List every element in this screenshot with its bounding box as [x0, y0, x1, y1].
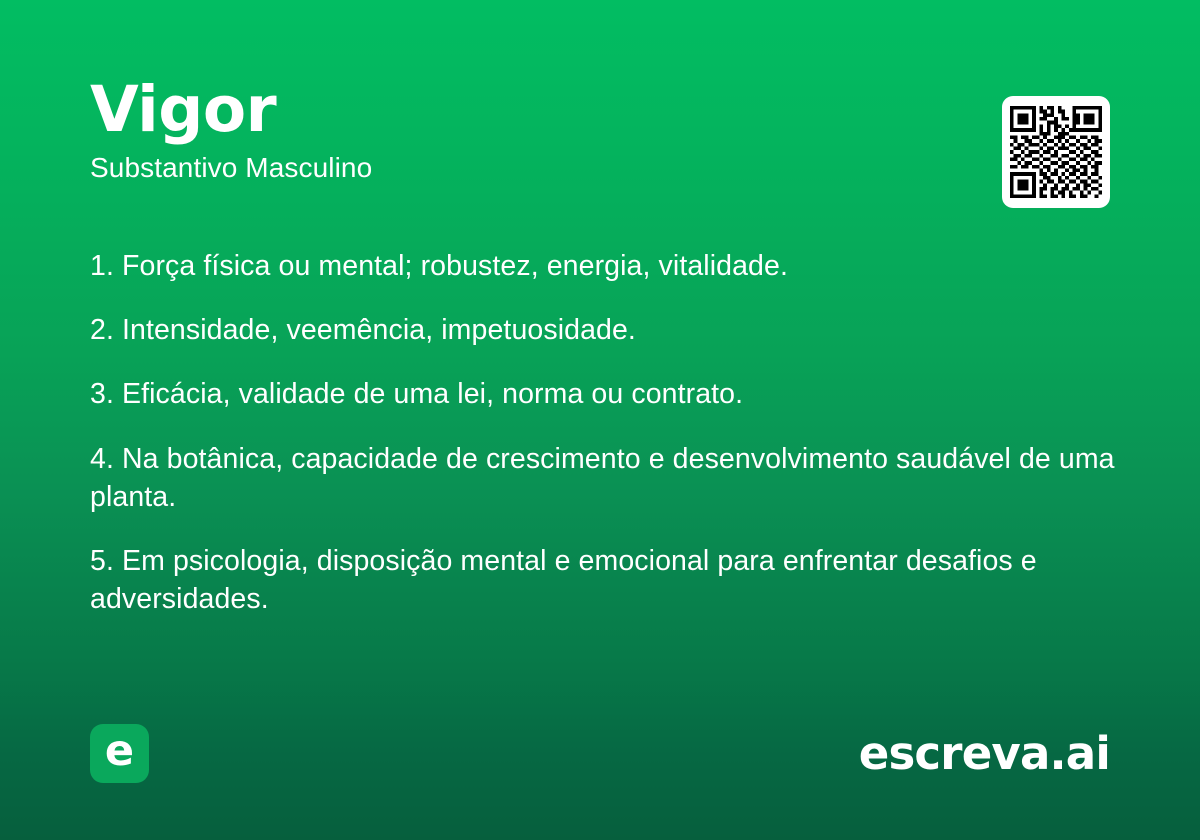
- qr-code-icon: [1010, 106, 1102, 198]
- dictionary-card: Vigor Substantivo Masculino 1. Força fís…: [0, 0, 1200, 840]
- page-title: Vigor: [90, 78, 1110, 141]
- definition-list: 1. Força física ou mental; robustez, ene…: [90, 247, 1116, 618]
- word-class-label: Substantivo Masculino: [90, 153, 1110, 184]
- brand-logo[interactable]: e: [90, 724, 149, 783]
- brand-logo-letter: e: [105, 730, 134, 773]
- card-header: Vigor Substantivo Masculino: [90, 78, 1110, 184]
- qr-code-card[interactable]: [1002, 96, 1110, 208]
- definition-item: 1. Força física ou mental; robustez, ene…: [90, 247, 1116, 285]
- definition-item: 4. Na botânica, capacidade de cresciment…: [90, 440, 1116, 516]
- brand-wordmark: escreva.ai: [859, 731, 1110, 776]
- definition-item: 3. Eficácia, validade de uma lei, norma …: [90, 375, 1116, 413]
- definition-item: 2. Intensidade, veemência, impetuosidade…: [90, 311, 1116, 349]
- definition-item: 5. Em psicologia, disposição mental e em…: [90, 542, 1116, 618]
- card-footer: e escreva.ai: [90, 722, 1110, 784]
